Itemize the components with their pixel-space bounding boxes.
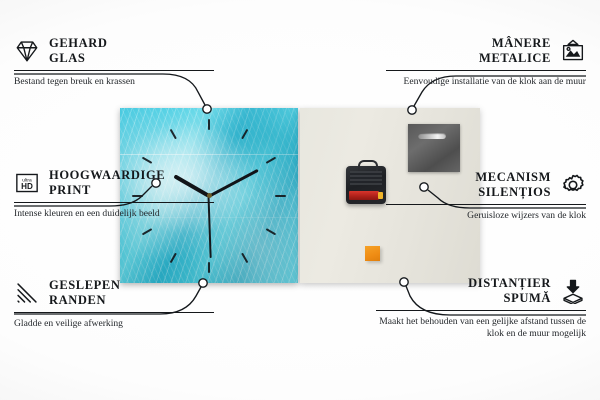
second-hand xyxy=(208,195,212,257)
hanging-picture-frame-icon xyxy=(560,38,586,64)
hour-hand xyxy=(173,174,210,197)
callout-gehard-glas: GEHARDGLAS Bestand tegen breuk en krasse… xyxy=(14,36,214,88)
metal-hanger-plate xyxy=(408,124,460,172)
hour-tick xyxy=(241,128,248,139)
beveled-edges-icon xyxy=(14,280,40,306)
diamond-icon xyxy=(14,38,40,64)
callout-title: MECANISMSILENȚIOS xyxy=(475,170,551,200)
callout-manere-metalice: MÂNEREMETALICE Eenvoudige installatie va… xyxy=(386,36,586,88)
callout-description: Gladde en veilige afwerking xyxy=(14,318,214,331)
clock-front-panel xyxy=(120,108,298,283)
ultra-hd-icon: ultra HD xyxy=(14,170,40,196)
clock-dial xyxy=(120,108,298,283)
callout-description: Bestand tegen breuk en krassen xyxy=(14,76,214,89)
hands-pin xyxy=(207,193,212,198)
callout-rule xyxy=(14,312,214,313)
callout-header: DISTANȚIERSPUMĂ xyxy=(376,276,586,306)
callout-header: MÂNEREMETALICE xyxy=(386,36,586,66)
hour-tick xyxy=(266,228,277,235)
hour-tick xyxy=(208,119,210,130)
hour-tick xyxy=(241,252,248,263)
callout-header: GEHARDGLAS xyxy=(14,36,214,66)
hour-tick xyxy=(275,195,286,197)
hour-tick xyxy=(170,128,177,139)
quartz-mechanism-box xyxy=(346,166,386,204)
svg-text:HD: HD xyxy=(21,182,33,191)
hour-tick xyxy=(208,262,210,273)
minute-hand xyxy=(208,168,258,196)
callout-mecanism-silentios: MECANISMSILENȚIOS Geruisloze wijzers van… xyxy=(386,170,586,222)
callout-title: MÂNEREMETALICE xyxy=(479,36,551,66)
mechanism-grill xyxy=(350,171,382,185)
callout-title: DISTANȚIERSPUMĂ xyxy=(468,276,551,306)
callout-header: MECANISMSILENȚIOS xyxy=(386,170,586,200)
hanger-keyhole-slot xyxy=(418,133,446,139)
callout-rule xyxy=(14,70,214,71)
callout-description: Maakt het behouden van een gelijke afsta… xyxy=(376,316,586,341)
hour-tick xyxy=(142,156,153,163)
callout-distantier-spuma: DISTANȚIERSPUMĂ Maakt het behouden van e… xyxy=(376,276,586,341)
spacer-press-icon xyxy=(560,278,586,304)
callout-rule xyxy=(376,310,586,311)
callout-title: GEHARDGLAS xyxy=(49,36,107,66)
hour-tick xyxy=(132,195,143,197)
callout-geslepen-randen: GESLEPENRANDEN Gladde en veilige afwerki… xyxy=(14,278,214,330)
callout-title: GESLEPENRANDEN xyxy=(49,278,121,308)
callout-description: Eenvoudige installatie van de klok aan d… xyxy=(386,76,586,89)
mechanism-hanging-loop xyxy=(358,160,378,171)
callout-rule xyxy=(386,70,586,71)
aa-battery xyxy=(349,191,379,200)
infographic-canvas: GEHARDGLAS Bestand tegen breuk en krasse… xyxy=(0,0,600,400)
gear-icon xyxy=(560,172,586,198)
callout-rule xyxy=(386,204,586,205)
hour-tick xyxy=(266,156,277,163)
foam-spacer xyxy=(365,246,380,261)
callout-description: Geruisloze wijzers van de klok xyxy=(386,210,586,223)
hour-tick xyxy=(170,252,177,263)
hour-tick xyxy=(142,228,153,235)
